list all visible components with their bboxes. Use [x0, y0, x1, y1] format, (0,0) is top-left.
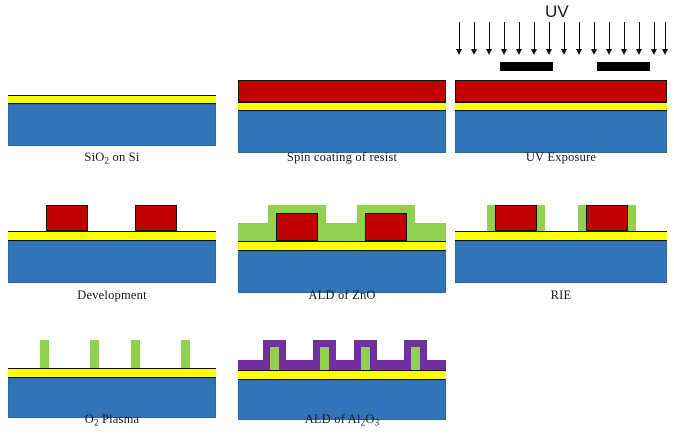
photomask-bar — [500, 62, 553, 71]
uv-arrow — [459, 22, 460, 50]
layer-sio2 — [238, 241, 446, 251]
zno-fin — [90, 340, 99, 368]
photomask-group — [455, 62, 667, 74]
uv-arrow — [609, 22, 610, 50]
layer-sio2 — [455, 102, 667, 111]
uv-arrow — [549, 22, 550, 50]
layer-silicon — [455, 241, 667, 283]
zno-fin — [361, 347, 370, 370]
layer-silicon — [238, 111, 446, 153]
step-panel-development — [8, 205, 216, 290]
uv-arrow — [624, 22, 625, 50]
resist-feature — [276, 213, 318, 241]
caption-spin-coating: Spin coating of resist — [238, 150, 446, 165]
zno-sidewall-spacer — [537, 205, 545, 231]
zno-fin — [131, 340, 140, 368]
uv-arrow — [639, 22, 640, 50]
layer-sio2 — [455, 231, 667, 241]
layer-sio2 — [8, 368, 216, 378]
zno-fin — [320, 347, 329, 370]
caption-text-pre: SiO — [84, 150, 104, 164]
layer-silicon — [238, 251, 446, 293]
resist-feature — [495, 205, 537, 231]
caption-text-pre: O — [85, 412, 94, 426]
process-flow-figure: SiO2 on Si Spin coating of resist UV — [0, 0, 674, 436]
uv-arrow — [519, 22, 520, 50]
step-panel-ald-zno — [238, 197, 446, 292]
layer-sio2 — [8, 95, 216, 104]
zno-sidewall-spacer — [628, 205, 636, 231]
zno-fin — [181, 340, 190, 368]
layer-silicon — [8, 104, 216, 146]
caption-text-pre: UV Exposure — [526, 150, 596, 164]
caption-sio2-on-si: SiO2 on Si — [8, 150, 216, 166]
caption-text-pre: ALD of ZnO — [308, 288, 375, 302]
caption-uv-exposure: UV Exposure — [455, 150, 667, 165]
zno-fin — [40, 340, 49, 368]
layer-silicon — [455, 111, 667, 153]
uv-arrow — [579, 22, 580, 50]
caption-development: Development — [8, 288, 216, 303]
uv-arrow — [564, 22, 565, 50]
caption-rie: RIE — [455, 288, 667, 303]
caption-text-sub2: 3 — [375, 418, 380, 428]
resist-feature — [135, 205, 177, 231]
uv-arrow-group — [455, 22, 667, 62]
caption-text-post: on Si — [109, 150, 139, 164]
resist-feature — [46, 205, 88, 231]
uv-label: UV — [545, 2, 569, 22]
zno-sidewall-spacer — [487, 205, 495, 231]
zno-fin — [270, 347, 279, 370]
caption-text-pre: Spin coating of resist — [287, 150, 397, 164]
caption-text-pre: RIE — [551, 288, 572, 302]
caption-o2-plasma: O2 Plasma — [8, 412, 216, 428]
layer-photoresist — [238, 80, 446, 102]
layer-photoresist — [455, 80, 667, 102]
uv-arrow — [654, 22, 655, 50]
zno-sidewall-spacer — [578, 205, 586, 231]
resist-feature — [365, 213, 407, 241]
uv-arrow — [474, 22, 475, 50]
uv-arrow — [594, 22, 595, 50]
caption-text-pre: ALD of Al — [305, 412, 361, 426]
caption-text-pre: Development — [77, 288, 147, 302]
zno-fin — [411, 347, 420, 370]
caption-ald-zno: ALD of ZnO — [238, 288, 446, 303]
layer-sio2 — [238, 102, 446, 111]
caption-ald-alumina: ALD of Al2O3 — [238, 412, 446, 428]
layer-sio2 — [8, 231, 216, 241]
step-panel-o2-plasma — [8, 340, 216, 420]
caption-text-post: O — [365, 412, 374, 426]
photomask-bar — [597, 62, 650, 71]
step-panel-ald-alumina — [238, 336, 446, 420]
uv-arrow — [489, 22, 490, 50]
layer-silicon — [8, 241, 216, 283]
resist-feature — [586, 205, 628, 231]
uv-arrow — [665, 22, 666, 50]
uv-arrow — [534, 22, 535, 50]
caption-text-post: Plasma — [99, 412, 140, 426]
uv-arrow — [504, 22, 505, 50]
layer-sio2 — [238, 370, 446, 380]
step-panel-rie — [455, 205, 667, 290]
